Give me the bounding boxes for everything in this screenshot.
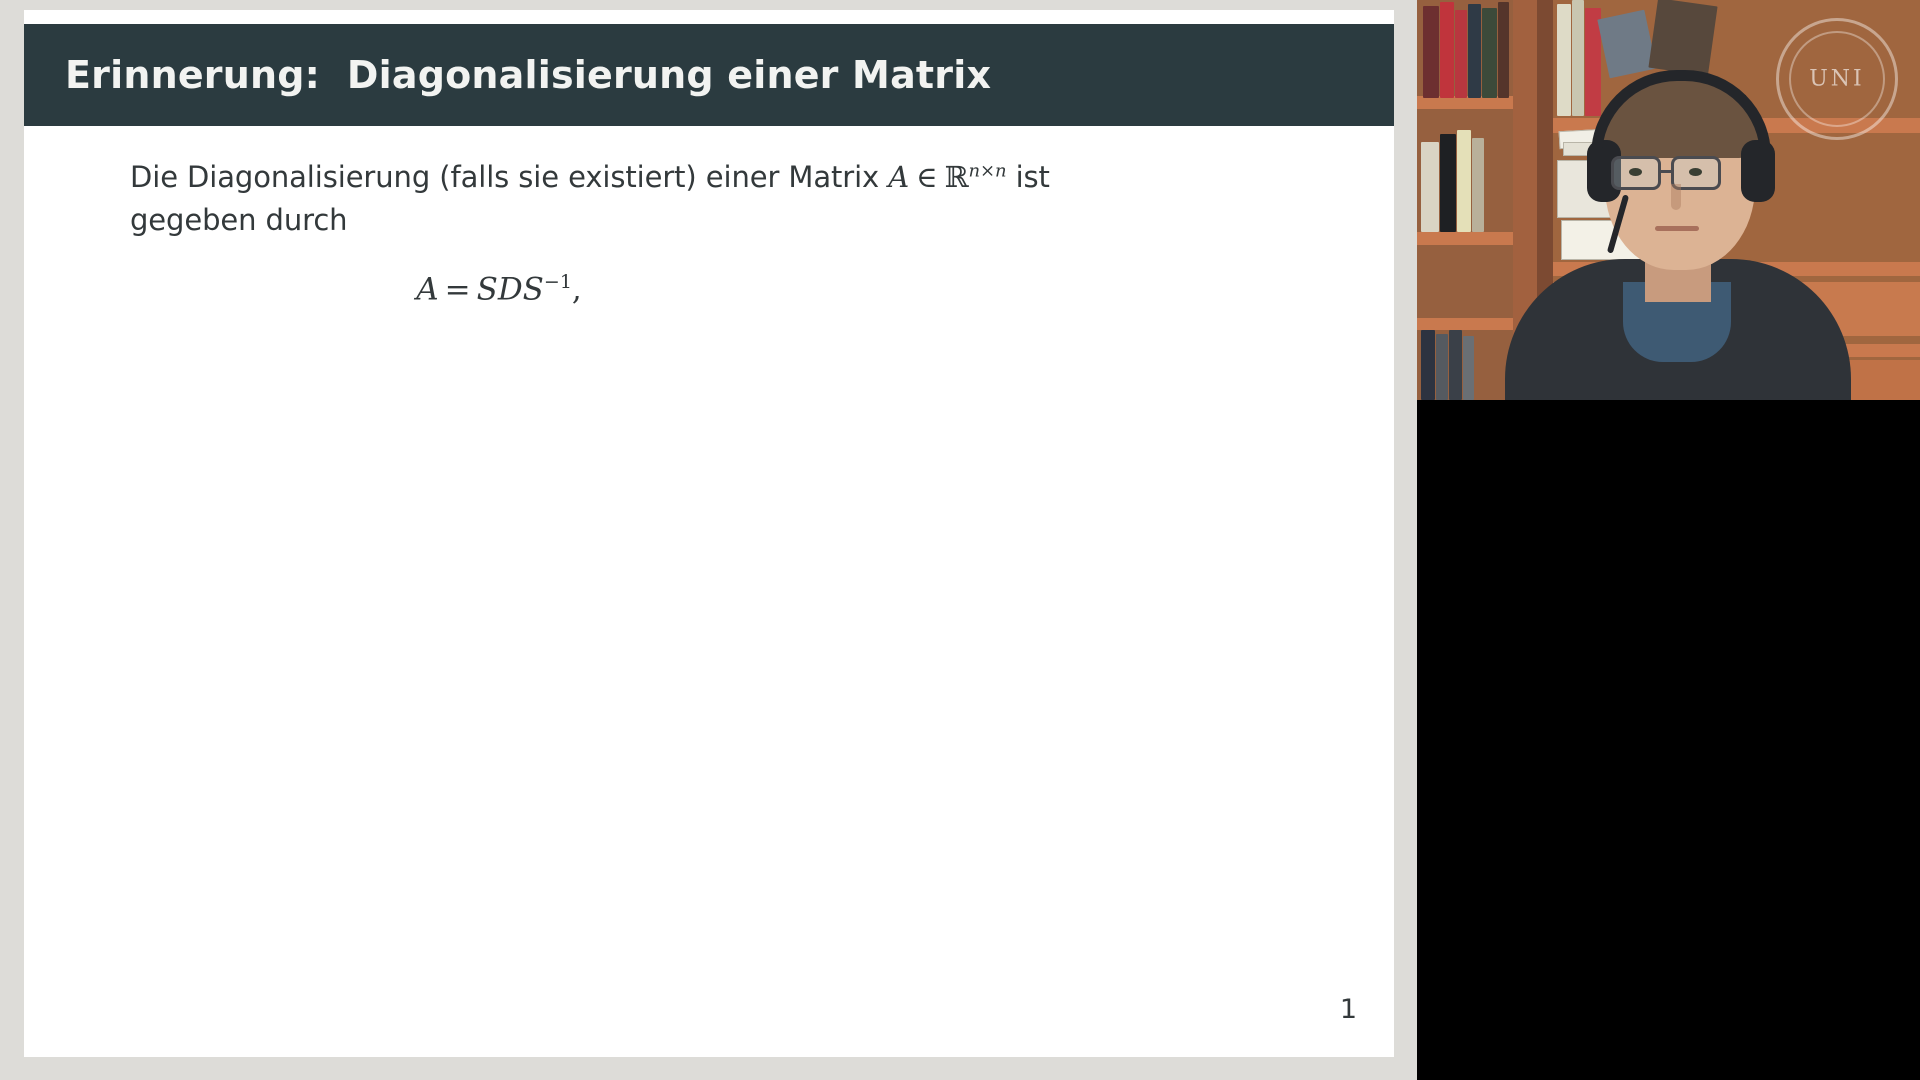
book xyxy=(1440,2,1454,98)
screen: Erinnerung: Diagonalisierung einer Matri… xyxy=(0,0,1920,1080)
mouth xyxy=(1655,226,1699,231)
page-number: 1 xyxy=(1340,994,1357,1025)
slide-title: Erinnerung: Diagonalisierung einer Matri… xyxy=(24,53,991,97)
book xyxy=(1449,330,1462,400)
eyeglass-bridge xyxy=(1661,170,1673,173)
element-of-icon: ∈ xyxy=(909,160,944,194)
book xyxy=(1421,330,1435,400)
real-numbers-exponent: n×n xyxy=(968,160,1006,181)
paragraph-text-before-math: Die Diagonalisierung (falls sie existier… xyxy=(130,160,888,194)
display-equation: A=SDS−1, xyxy=(24,271,1394,307)
book xyxy=(1463,336,1474,400)
eye-left xyxy=(1629,168,1642,176)
book xyxy=(1423,6,1439,98)
presentation-region: Erinnerung: Diagonalisierung einer Matri… xyxy=(0,0,1417,1080)
slide-body: Die Diagonalisierung (falls sie existier… xyxy=(24,126,1394,308)
slide-title-bar: Erinnerung: Diagonalisierung einer Matri… xyxy=(24,24,1394,126)
eye-right xyxy=(1689,168,1702,176)
book xyxy=(1455,10,1467,98)
slide-paragraph: Die Diagonalisierung (falls sie existier… xyxy=(24,126,1394,241)
book xyxy=(1457,130,1471,232)
book xyxy=(1440,134,1456,232)
webcam-background-scene: UNI xyxy=(1417,0,1920,400)
slide: Erinnerung: Diagonalisierung einer Matri… xyxy=(24,10,1394,1057)
paragraph-text-after-math: ist xyxy=(1006,160,1049,194)
equation-lhs: A xyxy=(416,272,438,308)
nose xyxy=(1671,184,1681,210)
equation-rhs-exponent: −1 xyxy=(544,271,572,293)
equation-relation: = xyxy=(439,272,477,308)
book xyxy=(1468,4,1481,98)
book xyxy=(1421,142,1439,232)
equation-rhs-base: SDS xyxy=(477,272,544,308)
webcam-video[interactable]: UNI xyxy=(1417,0,1920,400)
real-numbers-symbol: ℝ xyxy=(944,160,968,194)
university-seal-watermark: UNI xyxy=(1776,18,1898,140)
equation-trailing-punctuation: , xyxy=(572,272,582,308)
paragraph-line-two: gegeben durch xyxy=(130,203,347,237)
book xyxy=(1472,138,1484,232)
headphone-headband xyxy=(1591,70,1771,156)
watermark-text: UNI xyxy=(1779,67,1895,92)
camera-filler-area xyxy=(1417,400,1920,1080)
book xyxy=(1436,334,1448,400)
matrix-symbol: A xyxy=(888,160,909,194)
